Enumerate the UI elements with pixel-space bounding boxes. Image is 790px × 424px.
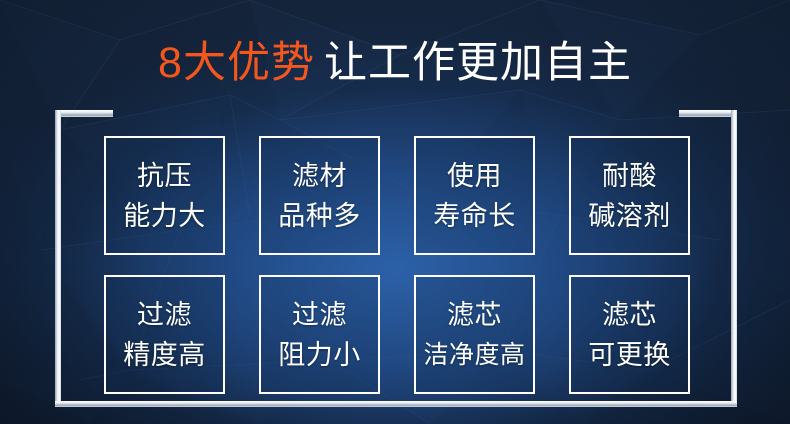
frame-bracket-bottom-edge <box>55 401 737 407</box>
title-highlight: 8大优势 <box>158 39 315 87</box>
frame-bracket-top-right <box>679 110 737 117</box>
feature-line-1: 滤材 <box>292 156 347 196</box>
feature-card: 耐酸 碱溶剂 <box>569 136 690 255</box>
feature-line-1: 过滤 <box>137 295 192 335</box>
frame-bracket-right-edge <box>731 110 737 407</box>
page-title: 8大优势让工作更加自主 <box>0 38 790 88</box>
feature-line-1: 滤芯 <box>447 295 502 335</box>
feature-line-1: 使用 <box>447 156 502 196</box>
feature-line-2: 品种多 <box>278 196 361 236</box>
frame-bracket-left-edge <box>55 110 61 407</box>
feature-card: 过滤 阻力小 <box>259 275 380 394</box>
feature-card: 抗压 能力大 <box>104 136 225 255</box>
feature-grid: 抗压 能力大 滤材 品种多 使用 寿命长 耐酸 碱溶剂 过滤 精度高 过滤 <box>104 136 690 394</box>
feature-card: 滤芯 洁净度高 <box>414 275 535 394</box>
feature-line-2: 寿命长 <box>433 196 516 236</box>
feature-line-2: 阻力小 <box>278 335 361 375</box>
feature-card: 使用 寿命长 <box>414 136 535 255</box>
feature-line-1: 耐酸 <box>602 156 657 196</box>
frame-bracket-top-left <box>55 110 113 117</box>
feature-line-2: 精度高 <box>123 335 206 375</box>
feature-line-1: 抗压 <box>137 156 192 196</box>
feature-card: 滤材 品种多 <box>259 136 380 255</box>
feature-line-2: 能力大 <box>123 196 206 236</box>
title-rest: 让工作更加自主 <box>324 39 632 87</box>
promo-banner: 8大优势让工作更加自主 抗压 能力大 滤材 品种多 使用 寿命长 耐酸 碱溶剂 <box>0 0 790 424</box>
feature-line-2: 洁净度高 <box>423 335 525 375</box>
feature-card: 过滤 精度高 <box>104 275 225 394</box>
feature-line-2: 可更换 <box>588 335 671 375</box>
feature-line-1: 过滤 <box>292 295 347 335</box>
feature-line-1: 滤芯 <box>602 295 657 335</box>
feature-line-2: 碱溶剂 <box>588 196 671 236</box>
feature-card: 滤芯 可更换 <box>569 275 690 394</box>
